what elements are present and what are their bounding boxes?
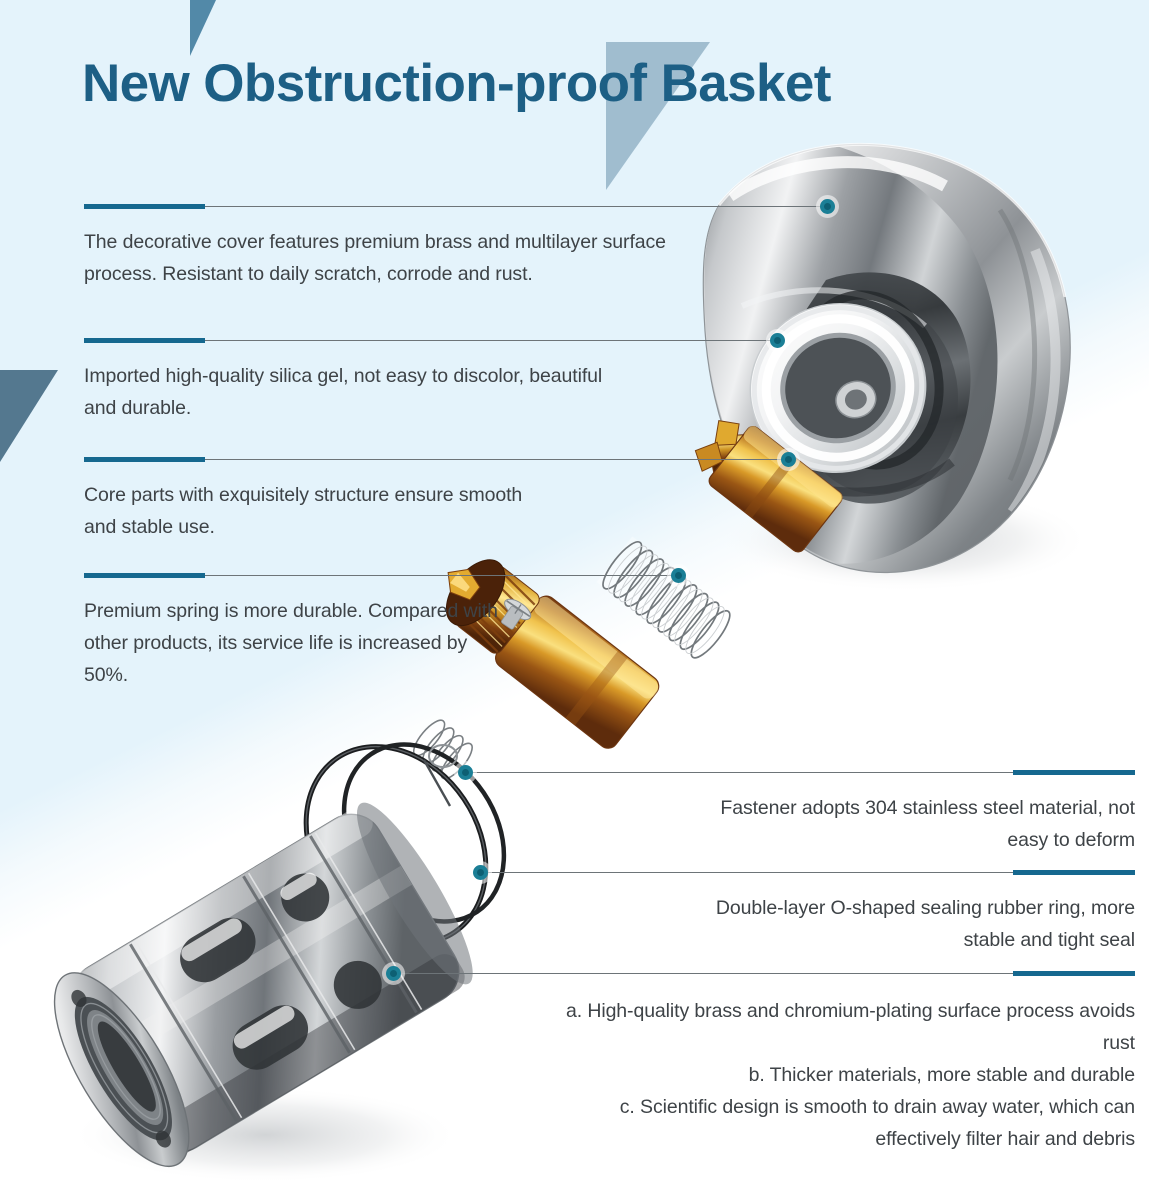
accent-bar <box>1013 770 1135 775</box>
accent-bar <box>84 204 205 209</box>
callout-text: The decorative cover features premium br… <box>84 226 684 290</box>
accent-bar <box>1013 870 1135 875</box>
leader-dot <box>781 452 796 467</box>
callout-text: a. High-quality brass and chromium-plati… <box>560 995 1135 1155</box>
accent-bar <box>84 573 205 578</box>
callout-text: Premium spring is more durable. Compared… <box>84 595 509 691</box>
leader-dot <box>671 568 686 583</box>
triangle-small-top-icon <box>190 0 216 56</box>
accent-bar <box>1013 971 1135 976</box>
infographic-page: New Obstruction-proof Basket <box>0 0 1149 1200</box>
callout-text: Double-layer O-shaped sealing rubber rin… <box>700 892 1135 956</box>
page-title: New Obstruction-proof Basket <box>82 54 1042 113</box>
callout-text: Fastener adopts 304 stainless steel mate… <box>715 792 1135 856</box>
callout-text: Core parts with exquisitely structure en… <box>84 479 554 543</box>
leader-dot <box>770 333 785 348</box>
triangle-left-edge-icon <box>0 370 58 462</box>
leader-dot <box>458 765 473 780</box>
accent-bar <box>84 338 205 343</box>
leader-dot <box>386 966 401 981</box>
accent-bar <box>84 457 205 462</box>
leader-dot <box>820 199 835 214</box>
callout-text: Imported high-quality silica gel, not ea… <box>84 360 604 424</box>
leader-dot <box>473 865 488 880</box>
